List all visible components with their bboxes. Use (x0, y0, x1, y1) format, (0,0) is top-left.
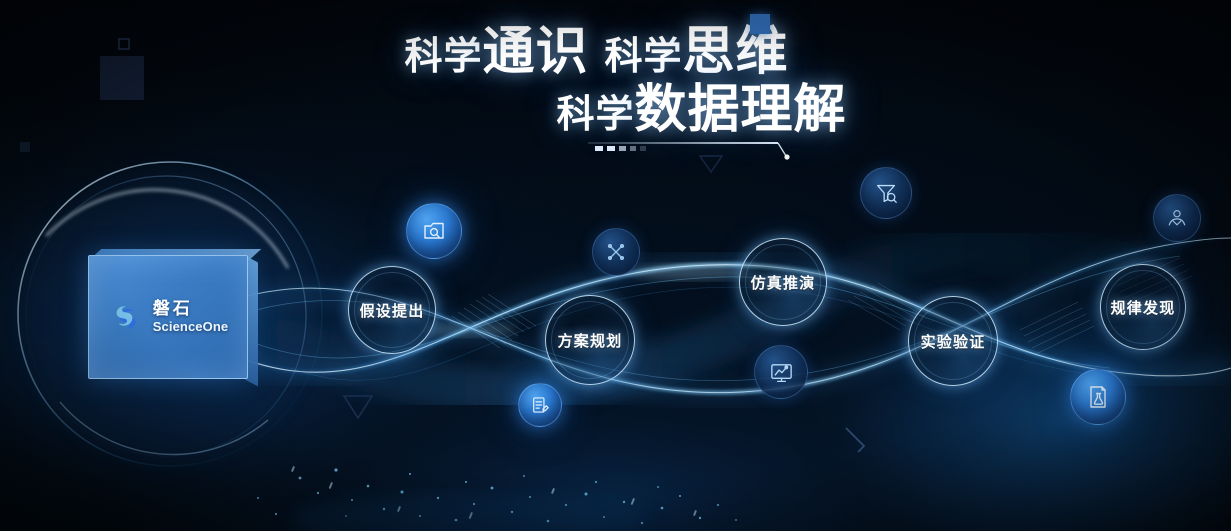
title-line1-part4: 思维 (683, 23, 789, 81)
node-label-experiment: 实验验证 (921, 331, 986, 352)
node-planning[interactable]: 方案规划 (545, 295, 635, 385)
node-label-simulation: 仿真推演 (751, 272, 816, 293)
title-line-1: 科学通识科学思维 (0, 26, 1231, 78)
sphere-s-logo-icon (108, 299, 144, 335)
underline-tail-icon (588, 142, 778, 144)
node-simulation[interactable]: 仿真推演 (739, 238, 827, 326)
monitor-chart-icon (768, 359, 795, 386)
notes-pen-icon (529, 394, 551, 416)
node-label-discovery: 规律发现 (1111, 297, 1176, 318)
title-line1-part2: 通识 (482, 23, 588, 81)
chip-front-face: 磐石 ScienceOne (88, 255, 248, 379)
title-line1-part3: 科学 (605, 36, 683, 78)
bubble-notes[interactable] (518, 383, 562, 427)
node-label-hypothesis: 假设提出 (360, 300, 425, 321)
node-experiment[interactable]: 实验验证 (908, 296, 998, 386)
bubble-monitor-chart[interactable] (754, 345, 808, 399)
faint-square-outline-icon (118, 38, 130, 50)
faint-square-icon (100, 56, 144, 100)
sciencone-chip: 磐石 ScienceOne (88, 249, 258, 379)
brand-name-cn: 磐石 (153, 299, 228, 319)
funnel-search-icon (873, 180, 899, 206)
bubble-funnel-search[interactable] (860, 167, 912, 219)
hero-banner: 科学通识科学思维 科学数据理解 (0, 0, 1231, 531)
chevron-outline-icon (846, 428, 864, 452)
faint-square-icon (20, 142, 30, 152)
document-search-icon (420, 217, 448, 245)
bubble-lab-flask[interactable] (1070, 369, 1126, 425)
bubble-researcher[interactable] (1153, 194, 1201, 242)
title-line-2: 科学数据理解 (172, 84, 1231, 136)
title-line1-part1: 科学 (404, 36, 482, 78)
brand-name-en: ScienceOne (153, 319, 228, 335)
title-line2-part1: 科学 (556, 94, 634, 136)
triangle-outline-icon (700, 156, 722, 172)
dash-marks-icon (595, 146, 646, 151)
cross-tools-icon (604, 240, 628, 264)
blue-square-icon (750, 14, 770, 34)
bubble-document-search[interactable] (406, 203, 462, 259)
node-hypothesis[interactable]: 假设提出 (348, 266, 436, 354)
title-line2-part2: 数据理解 (635, 81, 847, 139)
researcher-person-icon (1165, 206, 1189, 230)
flask-document-icon (1084, 383, 1112, 411)
triangle-outline-icon (344, 396, 372, 418)
bubble-cross-tools[interactable] (592, 228, 640, 276)
ring-arc-bottom (60, 402, 268, 454)
node-label-planning: 方案规划 (558, 330, 623, 351)
page-title: 科学通识科学思维 科学数据理解 (0, 26, 1231, 136)
node-discovery[interactable]: 规律发现 (1100, 264, 1186, 350)
